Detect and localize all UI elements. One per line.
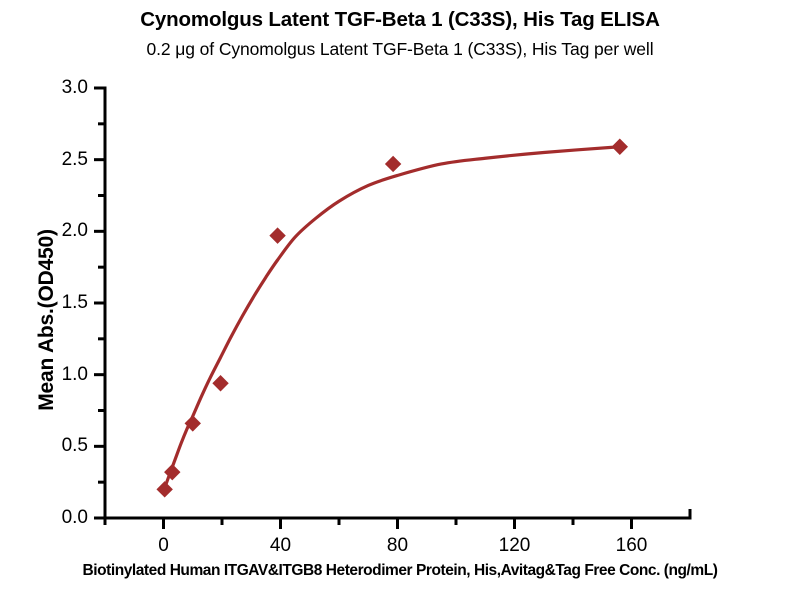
x-tick-label: 40: [246, 536, 316, 555]
x-tick-label: 0: [129, 536, 199, 555]
x-tick-label: 120: [480, 536, 550, 555]
x-tick-label: 160: [597, 536, 667, 555]
x-tick-label: 80: [363, 536, 433, 555]
x-tick-label-group: 04080120160: [0, 0, 800, 600]
chart-figure: Cynomolgus Latent TGF-Beta 1 (C33S), His…: [0, 0, 800, 600]
